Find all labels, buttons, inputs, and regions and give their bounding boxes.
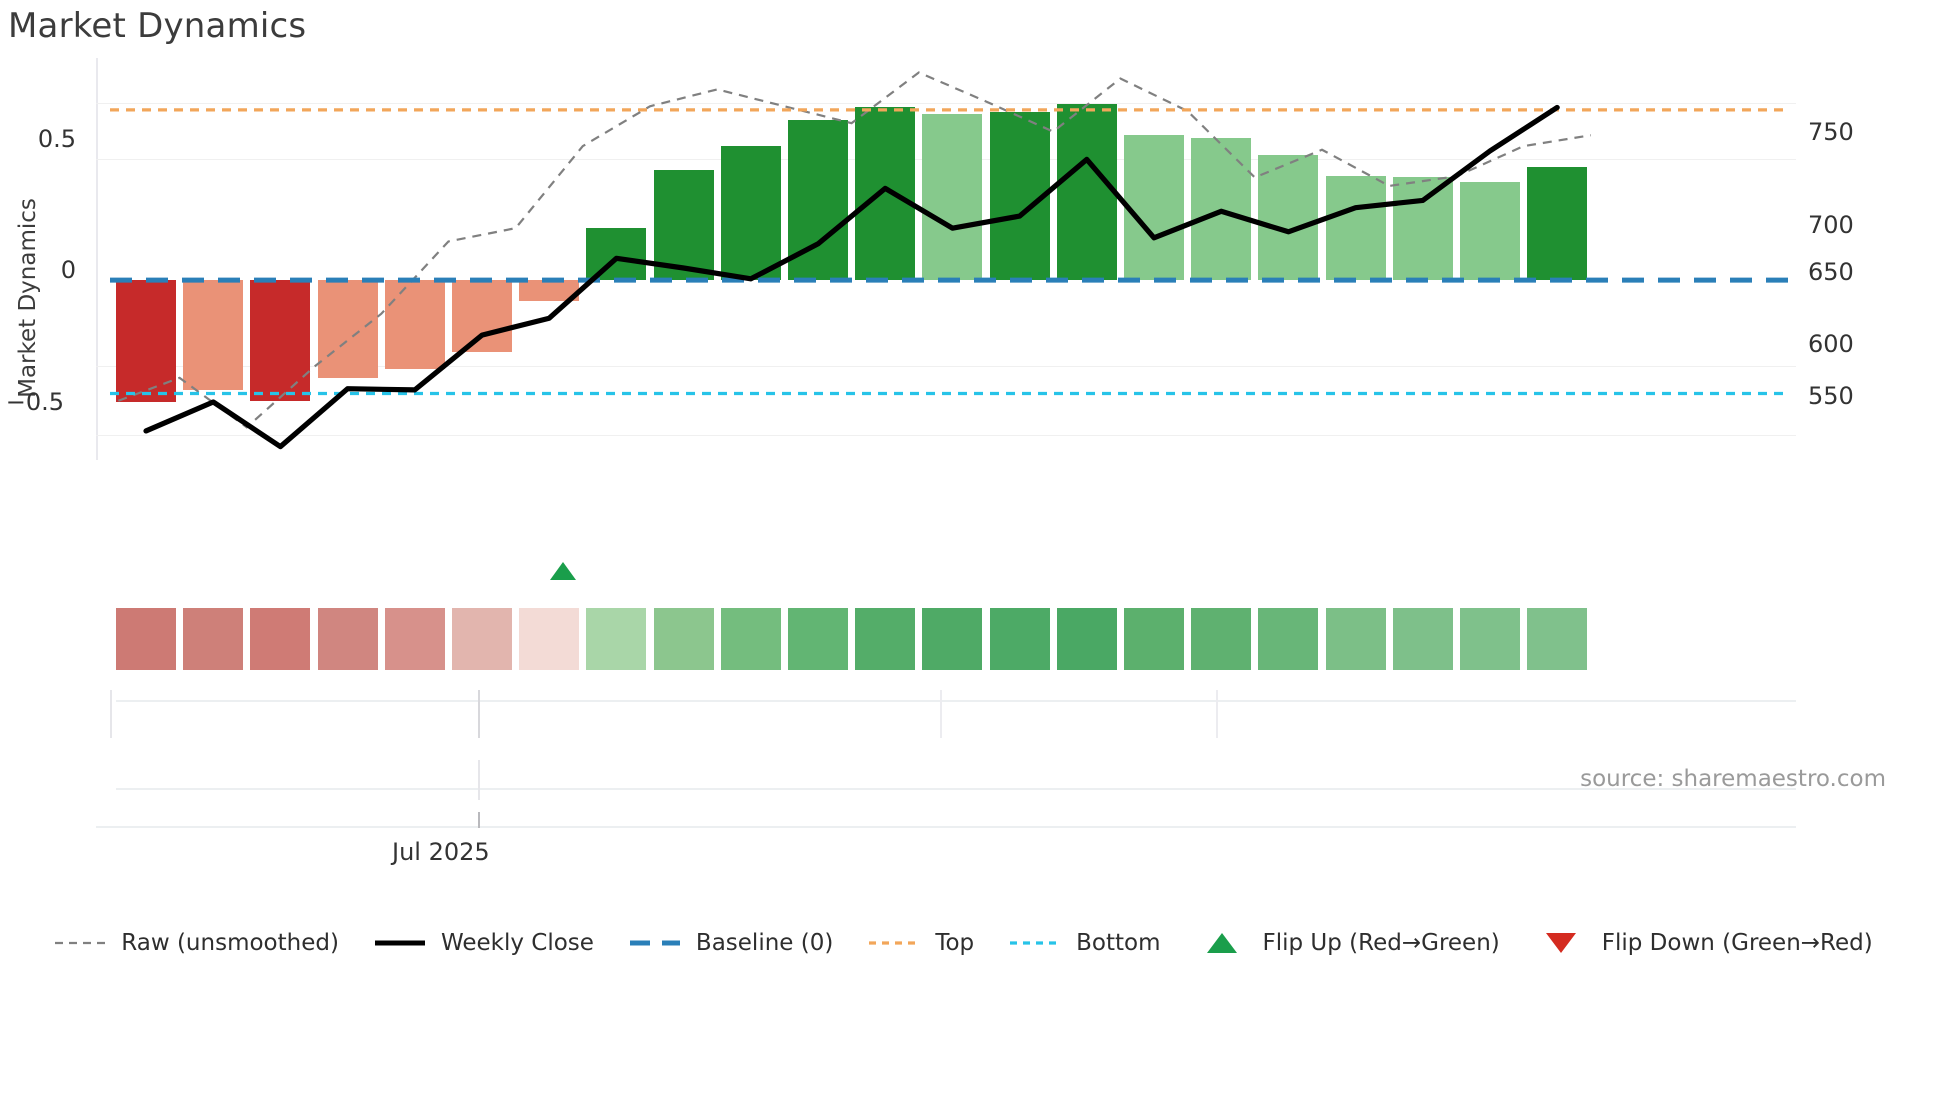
regime-strip xyxy=(116,608,1796,670)
regime-cell-W3[interactable] xyxy=(250,608,310,670)
chart-title: Market Dynamics xyxy=(8,6,306,46)
legend-label-baseline-zero: Baseline (0) xyxy=(696,930,833,956)
flip-down-icon xyxy=(1534,932,1588,954)
baseline-zero-icon xyxy=(628,932,682,954)
guide-rule-upper xyxy=(116,700,1796,702)
bar-W22[interactable] xyxy=(1527,167,1587,280)
regime-cell-W2[interactable] xyxy=(183,608,243,670)
regime-cell-W6[interactable] xyxy=(452,608,512,670)
bar-W2[interactable] xyxy=(183,280,243,390)
legend-label-flip-down: Flip Down (Green→Red) xyxy=(1602,930,1873,956)
bar-W17[interactable] xyxy=(1191,138,1251,280)
regime-cell-W10[interactable] xyxy=(721,608,781,670)
bar-W6[interactable] xyxy=(452,280,512,352)
bar-W14[interactable] xyxy=(990,112,1050,280)
flip-up-icon xyxy=(1195,932,1249,954)
gridline-550 xyxy=(96,435,1796,436)
legend-item-flip-up[interactable]: Flip Up (Red→Green) xyxy=(1195,930,1500,956)
y-tick-right-4: 550 xyxy=(1808,382,1898,410)
regime-cell-W20[interactable] xyxy=(1393,608,1453,670)
legend-label-bottom: Bottom xyxy=(1076,930,1160,956)
x-grid-2 xyxy=(478,690,480,738)
legend-item-baseline-zero[interactable]: Baseline (0) xyxy=(628,930,833,956)
y-tick-right-2: 650 xyxy=(1808,258,1898,286)
bar-W10[interactable] xyxy=(721,146,781,280)
y-tick-left-2: −0.5 xyxy=(0,388,64,416)
regime-cell-W19[interactable] xyxy=(1326,608,1386,670)
y-axis-left-label: Market Dynamics xyxy=(15,198,41,398)
gridline-750 xyxy=(96,103,1796,104)
bar-W21[interactable] xyxy=(1460,182,1520,280)
regime-cell-W15[interactable] xyxy=(1057,608,1117,670)
bar-W4[interactable] xyxy=(318,280,378,378)
bar-W3[interactable] xyxy=(250,280,310,401)
regime-cell-W9[interactable] xyxy=(654,608,714,670)
legend-item-top[interactable]: Top xyxy=(867,930,974,956)
x-grid-3 xyxy=(940,690,942,738)
bar-W1[interactable] xyxy=(116,280,176,402)
flip-up-marker-icon xyxy=(548,560,578,584)
bar-W5[interactable] xyxy=(385,280,445,369)
x-tick-mark-jul-2025 xyxy=(478,812,480,828)
x-grid-4 xyxy=(1216,690,1218,738)
weekly-close-icon xyxy=(373,932,427,954)
y-tick-right-0: 750 xyxy=(1808,118,1898,146)
regime-cell-W17[interactable] xyxy=(1191,608,1251,670)
y-tick-right-1: 700 xyxy=(1808,211,1898,239)
top-icon xyxy=(867,932,921,954)
legend-label-top: Top xyxy=(935,930,974,956)
regime-cell-W8[interactable] xyxy=(586,608,646,670)
regime-cell-W21[interactable] xyxy=(1460,608,1520,670)
chart-root: Market Dynamics Market Dynamics Weekly C… xyxy=(0,0,1960,1102)
chart-legend: Raw (unsmoothed)Weekly CloseBaseline (0)… xyxy=(0,930,1960,956)
regime-cell-W14[interactable] xyxy=(990,608,1050,670)
legend-item-bottom[interactable]: Bottom xyxy=(1008,930,1160,956)
regime-cell-W7[interactable] xyxy=(519,608,579,670)
plot-area xyxy=(96,58,1796,478)
bar-W12[interactable] xyxy=(855,107,915,280)
regime-cell-W13[interactable] xyxy=(922,608,982,670)
legend-item-raw-unsmoothed[interactable]: Raw (unsmoothed) xyxy=(53,930,339,956)
y-tick-left-1: 0 xyxy=(6,256,76,284)
regime-cell-W4[interactable] xyxy=(318,608,378,670)
bar-W13[interactable] xyxy=(922,114,982,281)
regime-cell-W1[interactable] xyxy=(116,608,176,670)
guide-rule-lower xyxy=(116,788,1796,790)
legend-item-flip-down[interactable]: Flip Down (Green→Red) xyxy=(1534,930,1873,956)
bar-W20[interactable] xyxy=(1393,177,1453,280)
legend-label-weekly-close: Weekly Close xyxy=(441,930,594,956)
raw-unsmoothed-icon xyxy=(53,932,107,954)
y-tick-right-3: 600 xyxy=(1808,330,1898,358)
legend-item-weekly-close[interactable]: Weekly Close xyxy=(373,930,594,956)
bar-W16[interactable] xyxy=(1124,135,1184,280)
bar-W7[interactable] xyxy=(519,280,579,301)
regime-cell-W16[interactable] xyxy=(1124,608,1184,670)
x-axis-rule xyxy=(96,826,1796,828)
bottom-icon xyxy=(1008,932,1062,954)
x-tick-label-jul-2025: Jul 2025 xyxy=(392,838,490,866)
bar-W8[interactable] xyxy=(586,228,646,280)
bar-W9[interactable] xyxy=(654,170,714,280)
bar-W19[interactable] xyxy=(1326,176,1386,280)
bar-W18[interactable] xyxy=(1258,155,1318,281)
regime-cell-W18[interactable] xyxy=(1258,608,1318,670)
bar-W11[interactable] xyxy=(788,120,848,281)
y-tick-left-0: 0.5 xyxy=(6,125,76,153)
regime-cell-W5[interactable] xyxy=(385,608,445,670)
x-grid-2b xyxy=(478,760,480,800)
legend-label-raw-unsmoothed: Raw (unsmoothed) xyxy=(121,930,339,956)
regime-cell-W12[interactable] xyxy=(855,608,915,670)
regime-cell-W11[interactable] xyxy=(788,608,848,670)
source-attribution: source: sharemaestro.com xyxy=(1580,766,1886,792)
regime-cell-W22[interactable] xyxy=(1527,608,1587,670)
bar-W15[interactable] xyxy=(1057,104,1117,280)
legend-label-flip-up: Flip Up (Red→Green) xyxy=(1263,930,1500,956)
x-grid-1 xyxy=(110,690,112,738)
